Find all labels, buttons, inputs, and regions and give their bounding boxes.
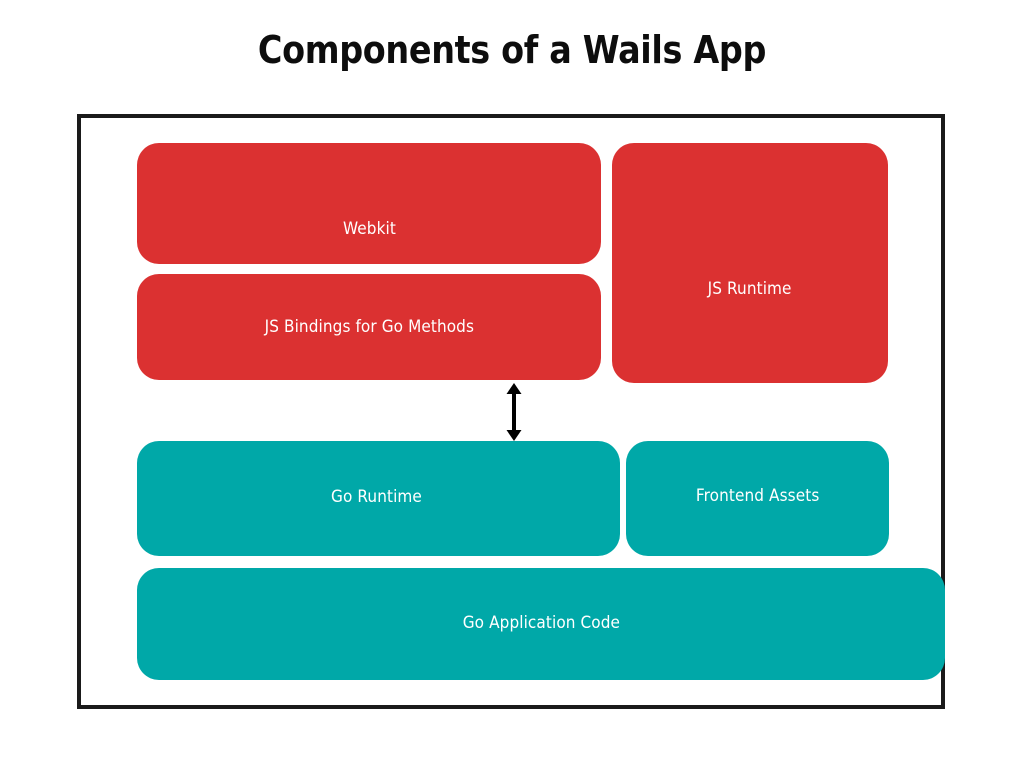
component-box-js-runtime[interactable]: JS Runtime [612, 143, 888, 383]
component-box-js-bindings[interactable]: JS Bindings for Go Methods [137, 274, 601, 380]
component-label-go-application-code: Go Application Code [462, 613, 619, 633]
page-title: Components of a Wails App [61, 28, 962, 72]
component-box-webkit[interactable]: Webkit [137, 143, 601, 264]
component-label-webkit: Webkit [342, 219, 395, 239]
slide-canvas: Components of a Wails App Webkit JS Bind… [0, 0, 1024, 768]
component-box-frontend-assets[interactable]: Frontend Assets [626, 441, 889, 556]
diagram-frame: Webkit JS Bindings for Go Methods JS Run… [77, 114, 945, 709]
component-box-go-runtime[interactable]: Go Runtime [137, 441, 620, 556]
component-label-frontend-assets: Frontend Assets [696, 486, 820, 506]
component-label-go-runtime: Go Runtime [331, 487, 422, 507]
component-label-js-bindings: JS Bindings for Go Methods [264, 317, 473, 337]
component-label-js-runtime: JS Runtime [708, 279, 792, 299]
component-box-go-application-code[interactable]: Go Application Code [137, 568, 945, 680]
double-arrow-vertical-icon [506, 383, 522, 441]
